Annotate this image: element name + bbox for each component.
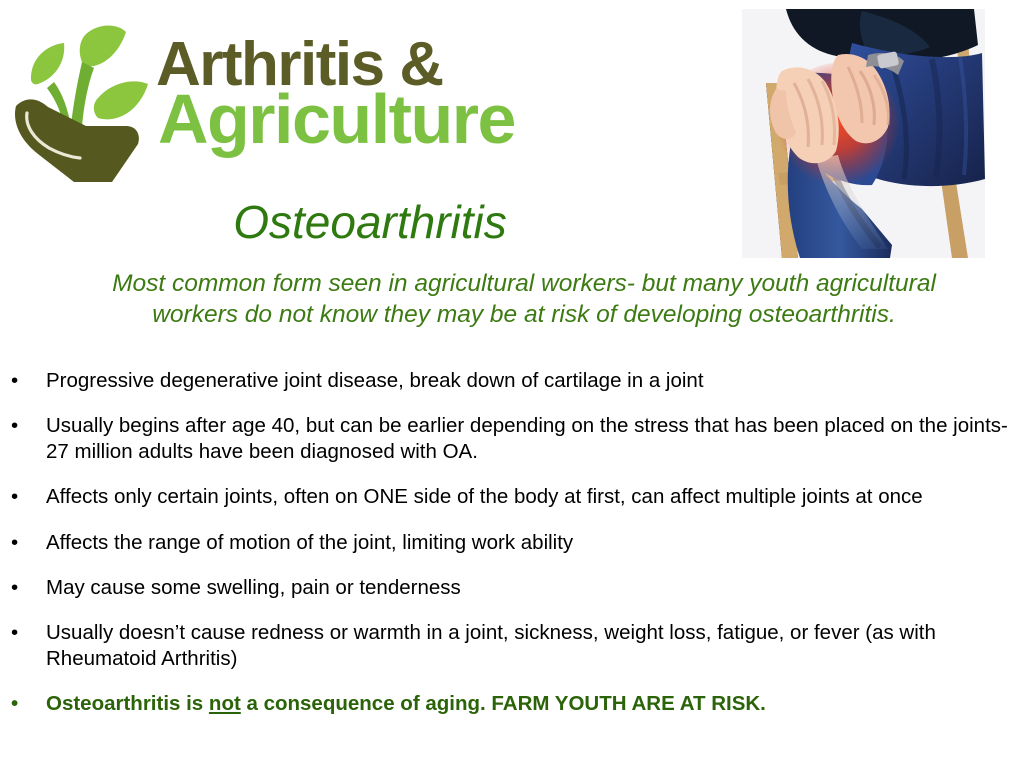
logo-text-agriculture: Agriculture: [158, 87, 536, 151]
arthritis-agriculture-logo: Arthritis & Agriculture: [8, 10, 538, 185]
bullet-dot-icon: •: [11, 530, 18, 555]
bullet-item: •Affects only certain joints, often on O…: [0, 484, 1024, 509]
bullet-dot-icon: •: [11, 575, 18, 600]
bullet-text: May cause some swelling, pain or tendern…: [46, 576, 461, 599]
bullet-dot-icon: •: [11, 413, 18, 438]
page-subtitle: Most common form seen in agricultural wo…: [100, 268, 948, 330]
bullet-list: •Progressive degenerative joint disease,…: [0, 368, 1024, 737]
bullet-text: Usually begins after age 40, but can be …: [46, 414, 1008, 462]
page-title: Osteoarthritis: [0, 196, 740, 249]
bullet-underlined-word: not: [209, 692, 241, 715]
bullet-item: •Progressive degenerative joint disease,…: [0, 368, 1024, 393]
hand-holding-seedling-icon: [8, 14, 158, 186]
bullet-item: •Usually begins after age 40, but can be…: [0, 413, 1024, 464]
logo-wordmark: Arthritis & Agriculture: [156, 36, 536, 186]
painful-knee-photo: [742, 9, 985, 258]
bullet-text: Osteoarthritis is not a consequence of a…: [46, 692, 766, 715]
bullet-item: •Usually doesn’t cause redness or warmth…: [0, 620, 1024, 671]
bullet-dot-icon: •: [11, 484, 18, 509]
bullet-text: Usually doesn’t cause redness or warmth …: [46, 621, 936, 669]
bullet-item: •Affects the range of motion of the join…: [0, 530, 1024, 555]
bullet-dot-icon: •: [11, 691, 18, 716]
bullet-dot-icon: •: [11, 368, 18, 393]
bullet-text: Progressive degenerative joint disease, …: [46, 369, 704, 392]
bullet-item: •Osteoarthritis is not a consequence of …: [0, 691, 1024, 716]
bullet-dot-icon: •: [11, 620, 18, 645]
bullet-item: •May cause some swelling, pain or tender…: [0, 575, 1024, 600]
bullet-text: Affects the range of motion of the joint…: [46, 531, 573, 554]
bullet-text: Affects only certain joints, often on ON…: [46, 485, 923, 508]
